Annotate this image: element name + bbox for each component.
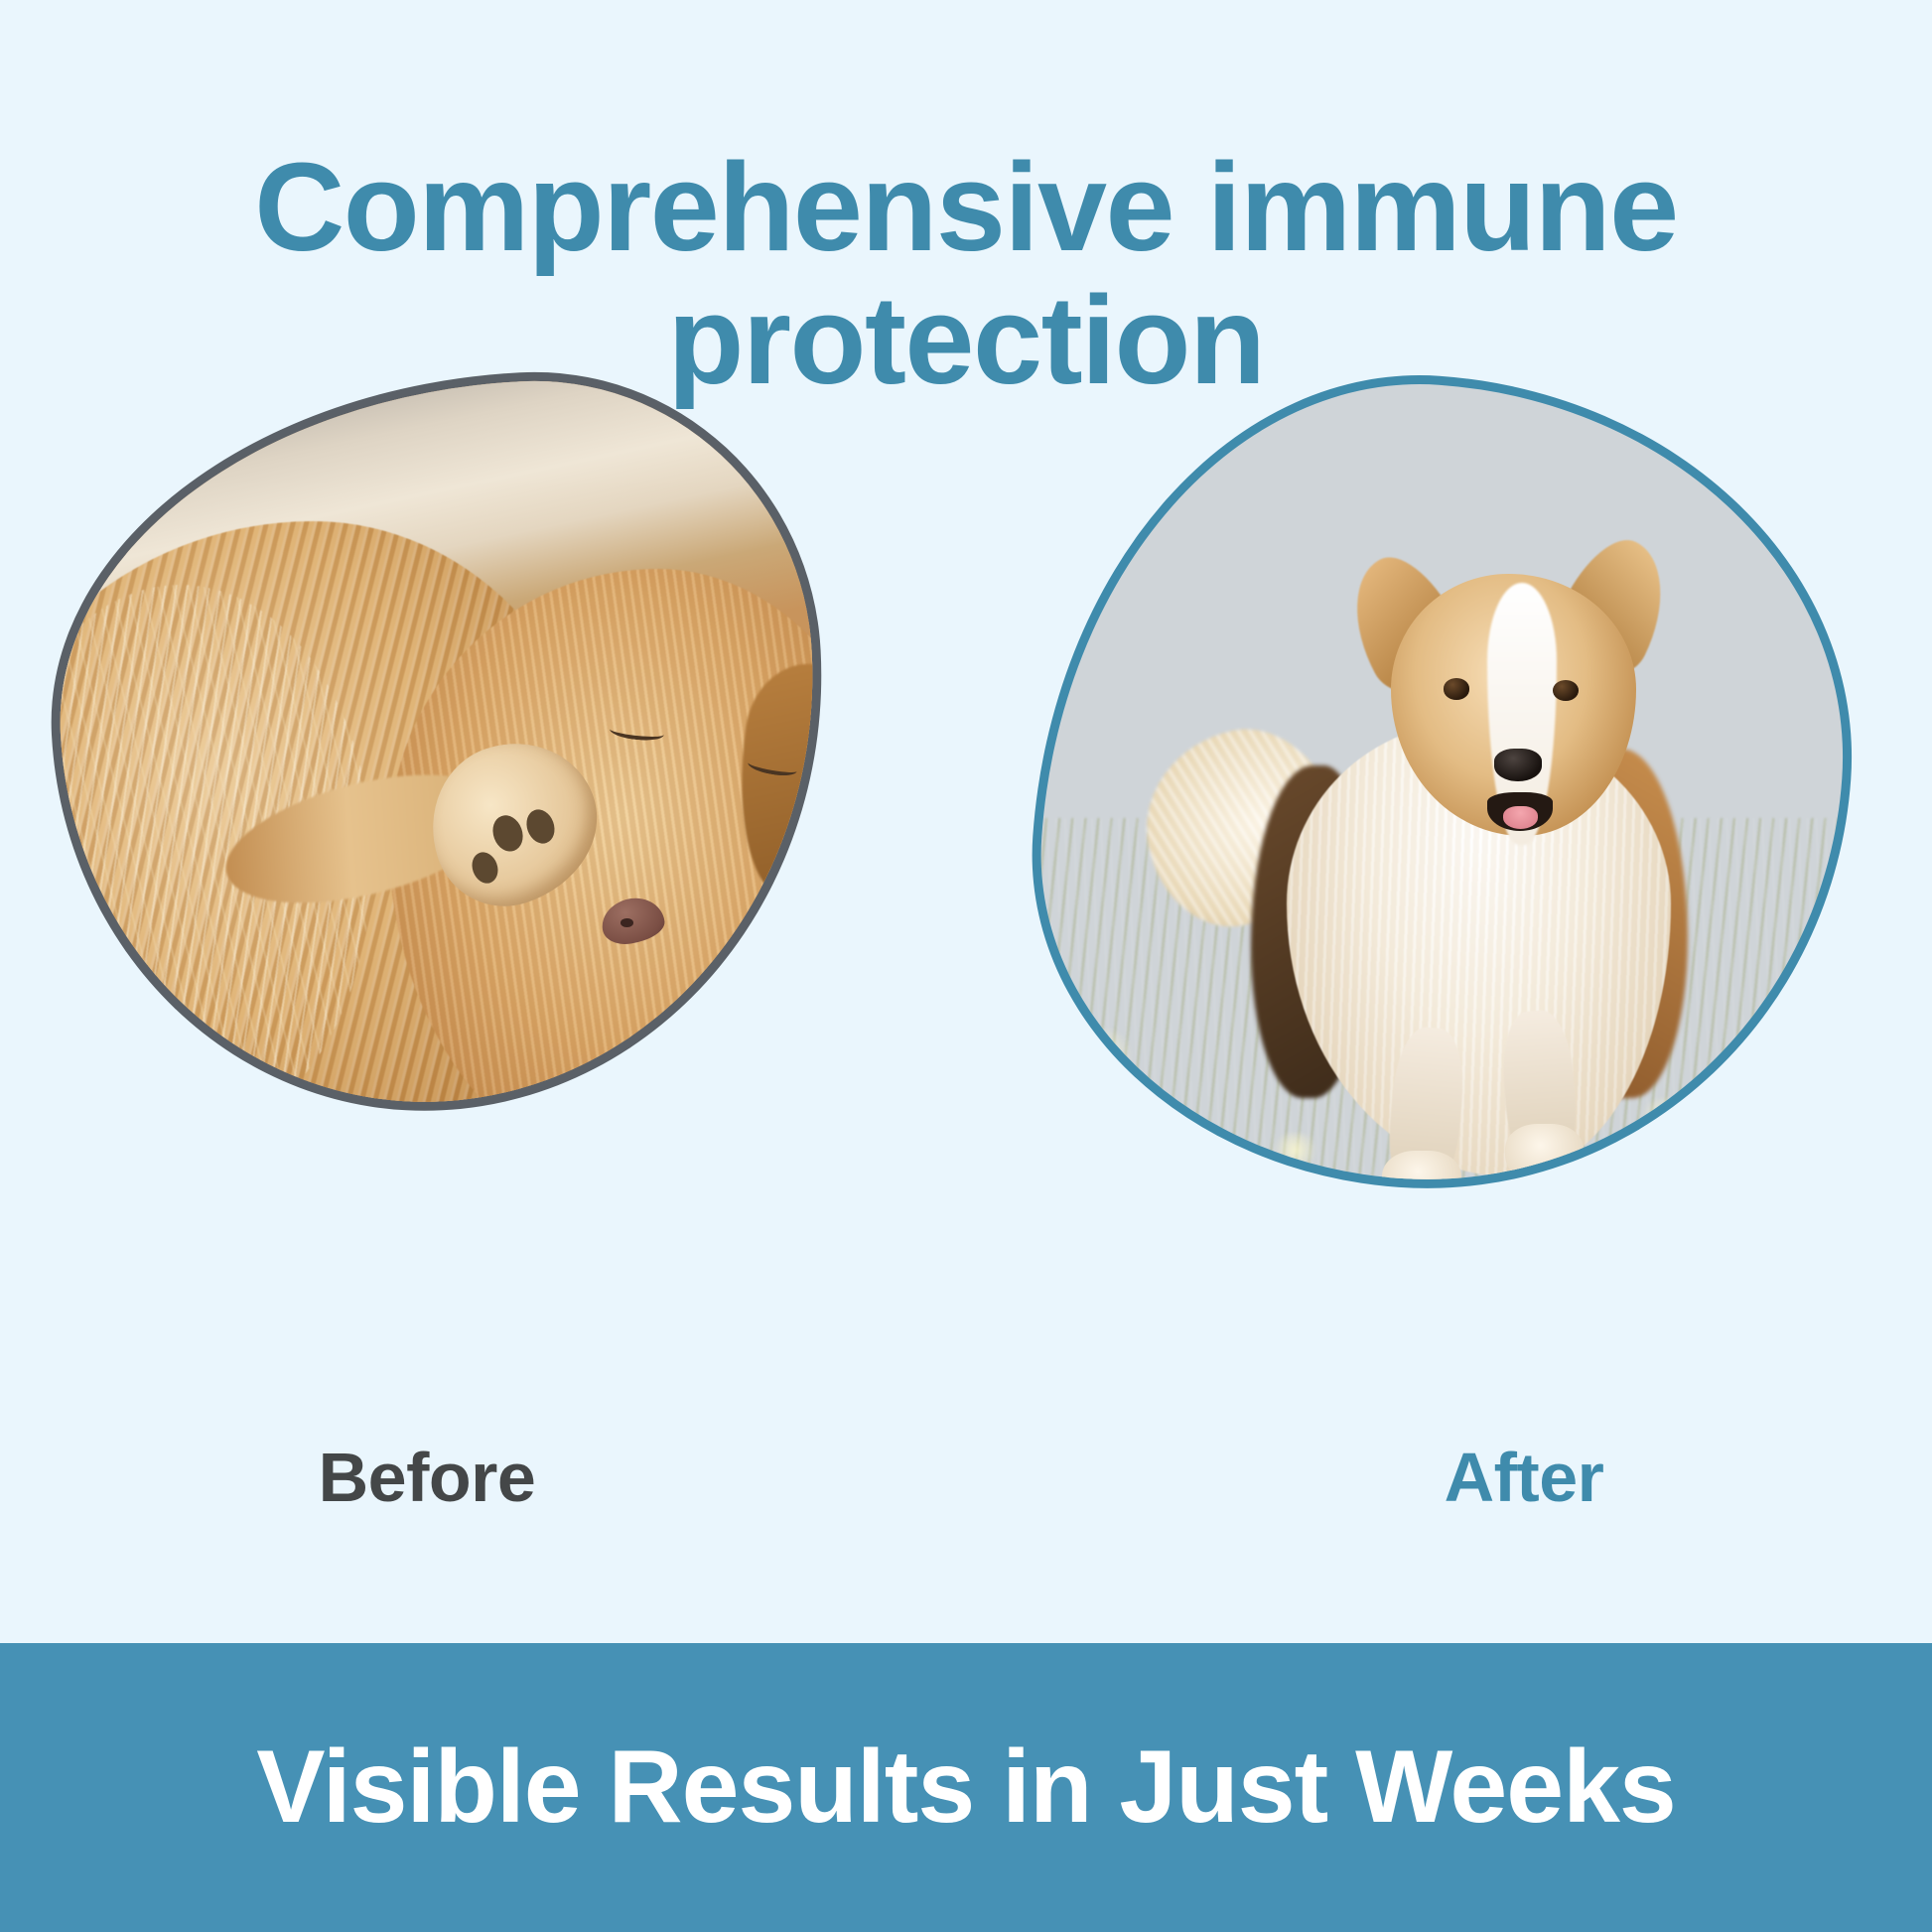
- before-photo: [34, 357, 844, 1130]
- banner-headline: Visible Results in Just Weeks: [256, 1728, 1676, 1847]
- after-image-blob: [1010, 349, 1876, 1216]
- before-image-blob: [34, 357, 844, 1130]
- page-title: Comprehensive immune protection: [0, 141, 1932, 406]
- before-photo-backdrop: [34, 357, 844, 1130]
- after-grass: [1010, 818, 1876, 1216]
- bottom-banner: Visible Results in Just Weeks: [0, 1643, 1932, 1932]
- after-label: After: [1147, 1438, 1901, 1517]
- after-photo: [1010, 349, 1876, 1216]
- before-after-comparison: [0, 377, 1932, 1529]
- before-panel: [35, 377, 819, 1110]
- before-label: Before: [35, 1438, 819, 1517]
- after-panel: [948, 377, 1901, 1189]
